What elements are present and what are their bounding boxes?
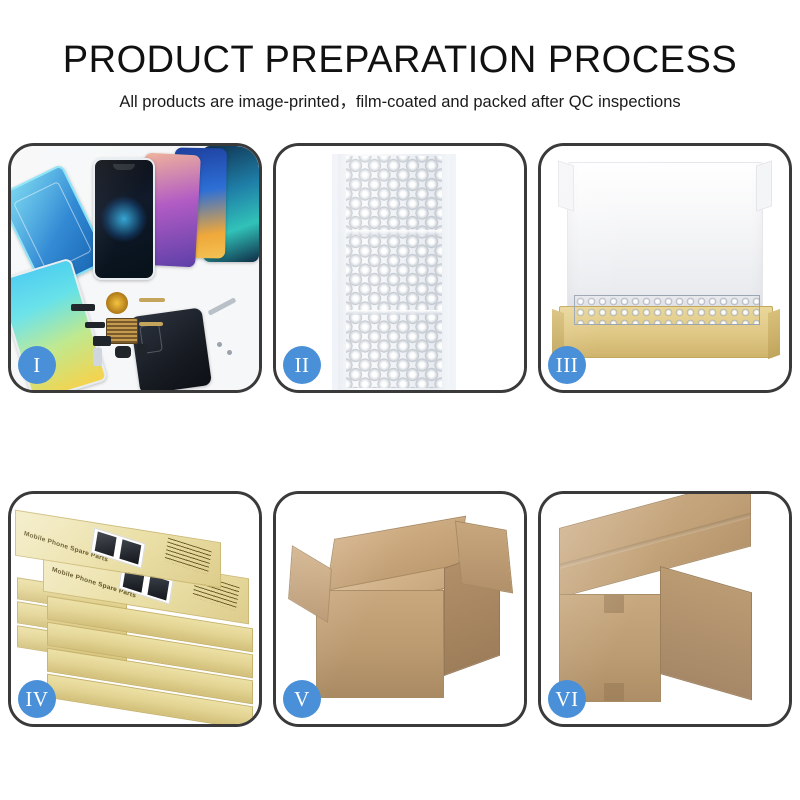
bag-seam — [346, 230, 442, 235]
product-preparation-infographic: PRODUCT PREPARATION PROCESS All products… — [0, 0, 800, 800]
screen-glass-icon — [93, 158, 155, 280]
bubble-wrap-pouch-icon — [332, 154, 456, 390]
step-badge-3: III — [548, 346, 586, 384]
screw-icon — [227, 350, 232, 355]
small-part-icon — [137, 344, 147, 358]
step-panel-2: II — [273, 143, 527, 393]
carton-tab — [604, 595, 624, 613]
carton-front-face — [316, 590, 444, 698]
bubble-texture — [346, 156, 442, 388]
small-part-icon — [85, 322, 105, 328]
step-panel-4: Mobile Phone Spare Parts Mobile Phone Sp… — [8, 491, 262, 727]
box-spec-lines — [164, 538, 211, 575]
page-subtitle: All products are image-printed，film-coat… — [0, 91, 800, 113]
step-badge-4: IV — [18, 680, 56, 718]
flex-cable-icon — [139, 322, 163, 326]
white-box-lid-icon — [567, 162, 763, 312]
step-panel-6: VI — [538, 491, 792, 727]
header: PRODUCT PREPARATION PROCESS All products… — [0, 0, 800, 113]
speaker-coil-icon — [106, 292, 128, 314]
kraft-box-tray-icon — [559, 306, 773, 358]
tape-seam — [560, 513, 750, 569]
carton-tab — [604, 683, 624, 701]
sim-tray-icon — [93, 348, 102, 366]
tray-flap-right — [768, 309, 780, 359]
small-part-icon — [93, 336, 111, 346]
carton-flap-left — [288, 545, 332, 623]
box-artwork-photo — [90, 527, 145, 568]
step-badge-2: II — [283, 346, 321, 384]
step-badge-5: V — [283, 680, 321, 718]
bubble-wrapped-contents-icon — [574, 295, 760, 325]
carton-flap-right — [455, 521, 513, 594]
small-part-icon — [71, 304, 95, 311]
page-title: PRODUCT PREPARATION PROCESS — [0, 38, 800, 82]
tweezers-icon — [208, 297, 237, 315]
step-badge-1: I — [18, 346, 56, 384]
screw-icon — [217, 342, 222, 347]
flex-cable-icon — [139, 298, 165, 302]
carton-side-face — [660, 566, 752, 700]
step-panel-3: III — [538, 143, 792, 393]
small-part-icon — [115, 346, 131, 358]
step-panel-5: V — [273, 491, 527, 727]
carton-top-face — [559, 494, 751, 598]
process-steps-grid: I II — [8, 143, 792, 727]
step-panel-1: I — [8, 143, 262, 393]
bag-seam — [346, 310, 442, 315]
step-badge-6: VI — [548, 680, 586, 718]
